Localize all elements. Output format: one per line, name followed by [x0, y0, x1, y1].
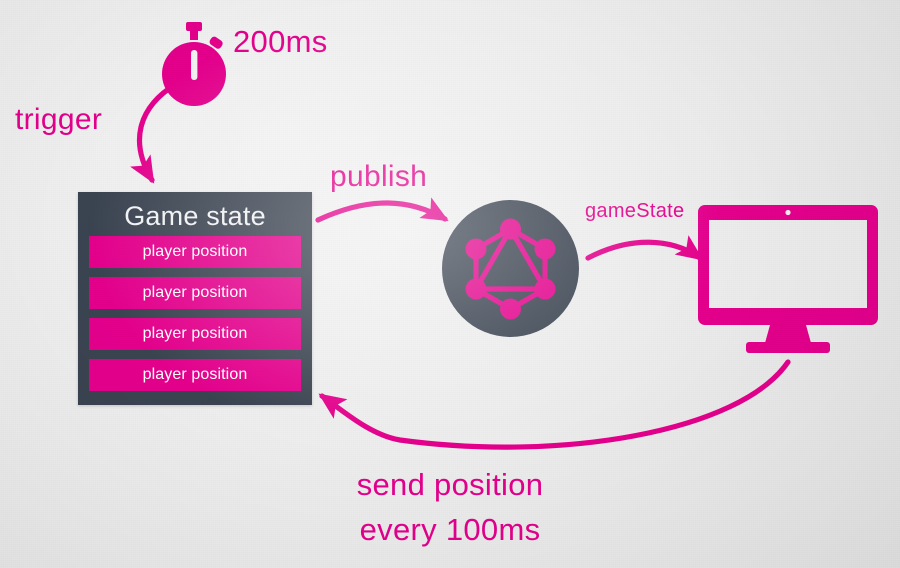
trigger-label: trigger [15, 103, 102, 137]
stopwatch-icon [160, 22, 232, 108]
monitor-icon [698, 205, 878, 353]
send-position-arrow [322, 362, 788, 447]
player-position-row: player position [89, 318, 301, 350]
player-position-row: player position [89, 236, 301, 268]
send-position-line-2: every 100ms [0, 507, 900, 552]
graphql-logo-icon [442, 200, 579, 337]
player-position-row: player position [89, 359, 301, 391]
diagram-canvas: Game state player position player positi… [0, 0, 900, 568]
panel-title: Game state [89, 196, 301, 236]
player-position-row: player position [89, 277, 301, 309]
game-state-panel: Game state player position player positi… [78, 192, 312, 405]
send-position-label: send position every 100ms [0, 462, 900, 552]
timer-label: 200ms [233, 24, 328, 60]
publish-label: publish [330, 160, 427, 194]
send-position-line-1: send position [0, 462, 900, 507]
gamestate-label: gameState [585, 200, 684, 223]
gamestate-arrow [588, 242, 700, 258]
publish-arrow [318, 203, 445, 220]
